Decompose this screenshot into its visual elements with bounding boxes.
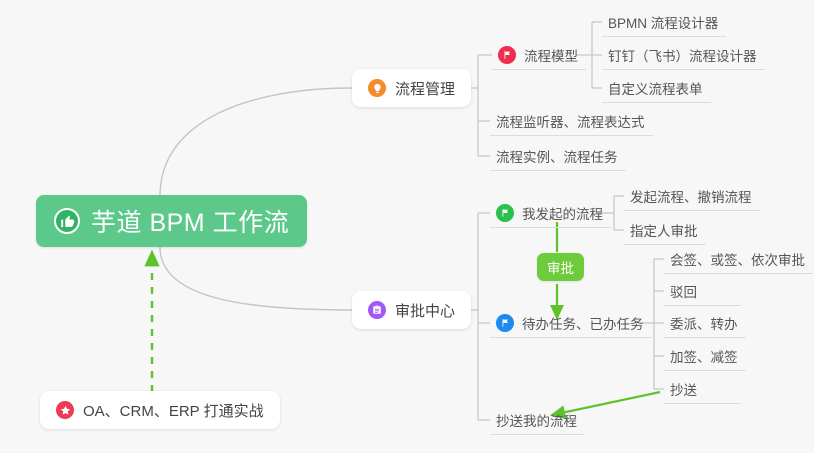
leaf-label-process-listener-expression: 流程监听器、流程表达式 bbox=[496, 111, 645, 131]
thumbs-up-icon bbox=[54, 208, 80, 234]
leaf-label-start-cancel-process: 发起流程、撤销流程 bbox=[630, 186, 752, 206]
leaf-node-reject[interactable]: 驳回 bbox=[664, 277, 741, 306]
leaf-label-process-instance-task: 流程实例、流程任务 bbox=[496, 146, 618, 166]
leaf-label-add-remove-signer: 加签、减签 bbox=[670, 346, 738, 366]
leaf-node-bpmn-designer[interactable]: BPMN 流程设计器 bbox=[602, 8, 726, 37]
leaf-label-custom-process-form: 自定义流程表单 bbox=[608, 78, 703, 98]
callout-node-oa-crm-erp[interactable]: OA、CRM、ERP 打通实战 bbox=[40, 391, 280, 429]
leaf-label-process-model: 流程模型 bbox=[524, 45, 578, 65]
leaf-label-countersign: 会签、或签、依次审批 bbox=[670, 249, 805, 269]
leaf-node-process-model[interactable]: 流程模型 bbox=[492, 41, 586, 70]
leaf-label-reject: 驳回 bbox=[670, 281, 733, 301]
leaf-node-delegate-transfer[interactable]: 委派、转办 bbox=[664, 309, 746, 338]
root-label: 芋道 BPM 工作流 bbox=[91, 203, 289, 239]
leaf-label-cc-to-me-process: 抄送我的流程 bbox=[496, 410, 577, 430]
leaf-node-process-listener-expression[interactable]: 流程监听器、流程表达式 bbox=[490, 107, 653, 136]
leaf-node-todo-done-tasks[interactable]: 待办任务、已办任务 bbox=[490, 309, 652, 338]
mindmap-canvas: 芋道 BPM 工作流 OA、CRM、ERP 打通实战 流程管理 流程模型 BPM… bbox=[0, 0, 814, 453]
clipboard-icon bbox=[368, 301, 386, 319]
leaf-label-my-initiated-process: 我发起的流程 bbox=[522, 203, 603, 223]
leaf-node-countersign[interactable]: 会签、或签、依次审批 bbox=[664, 245, 813, 274]
wire-root-to-approval-center bbox=[160, 247, 352, 310]
leaf-label-assignee-approval: 指定人审批 bbox=[630, 220, 698, 240]
leaf-label-cc: 抄送 bbox=[670, 379, 733, 399]
leaf-node-cc-to-me-process[interactable]: 抄送我的流程 bbox=[490, 406, 585, 435]
flag-icon bbox=[496, 314, 514, 332]
lightbulb-icon bbox=[368, 79, 386, 97]
callout-label: OA、CRM、ERP 打通实战 bbox=[83, 400, 264, 421]
leaf-node-custom-process-form[interactable]: 自定义流程表单 bbox=[602, 74, 711, 103]
wire-root-to-process-management bbox=[160, 88, 352, 196]
flag-icon bbox=[496, 204, 514, 222]
leaf-node-process-instance-task[interactable]: 流程实例、流程任务 bbox=[490, 142, 626, 171]
branch-node-process-management[interactable]: 流程管理 bbox=[352, 69, 471, 107]
approval-tag[interactable]: 审批 bbox=[537, 253, 584, 281]
leaf-label-dingtalk-feishu-designer: 钉钉（飞书）流程设计器 bbox=[608, 45, 757, 65]
leaf-node-cc[interactable]: 抄送 bbox=[664, 375, 741, 404]
leaf-node-my-initiated-process[interactable]: 我发起的流程 bbox=[490, 199, 611, 228]
leaf-node-start-cancel-process[interactable]: 发起流程、撤销流程 bbox=[624, 182, 760, 211]
leaf-label-bpmn-designer: BPMN 流程设计器 bbox=[608, 12, 718, 32]
leaf-node-dingtalk-feishu-designer[interactable]: 钉钉（飞书）流程设计器 bbox=[602, 41, 765, 70]
star-icon bbox=[56, 401, 74, 419]
flag-icon bbox=[498, 46, 516, 64]
leaf-node-assignee-approval[interactable]: 指定人审批 bbox=[624, 216, 706, 245]
branch-label-approval-center: 审批中心 bbox=[395, 300, 455, 321]
leaf-label-todo-done-tasks: 待办任务、已办任务 bbox=[522, 313, 644, 333]
leaf-node-add-remove-signer[interactable]: 加签、减签 bbox=[664, 342, 746, 371]
approval-tag-label: 审批 bbox=[547, 257, 574, 277]
branch-label-process-management: 流程管理 bbox=[395, 78, 455, 99]
root-node[interactable]: 芋道 BPM 工作流 bbox=[36, 195, 307, 247]
branch-node-approval-center[interactable]: 审批中心 bbox=[352, 291, 471, 329]
leaf-label-delegate-transfer: 委派、转办 bbox=[670, 313, 738, 333]
